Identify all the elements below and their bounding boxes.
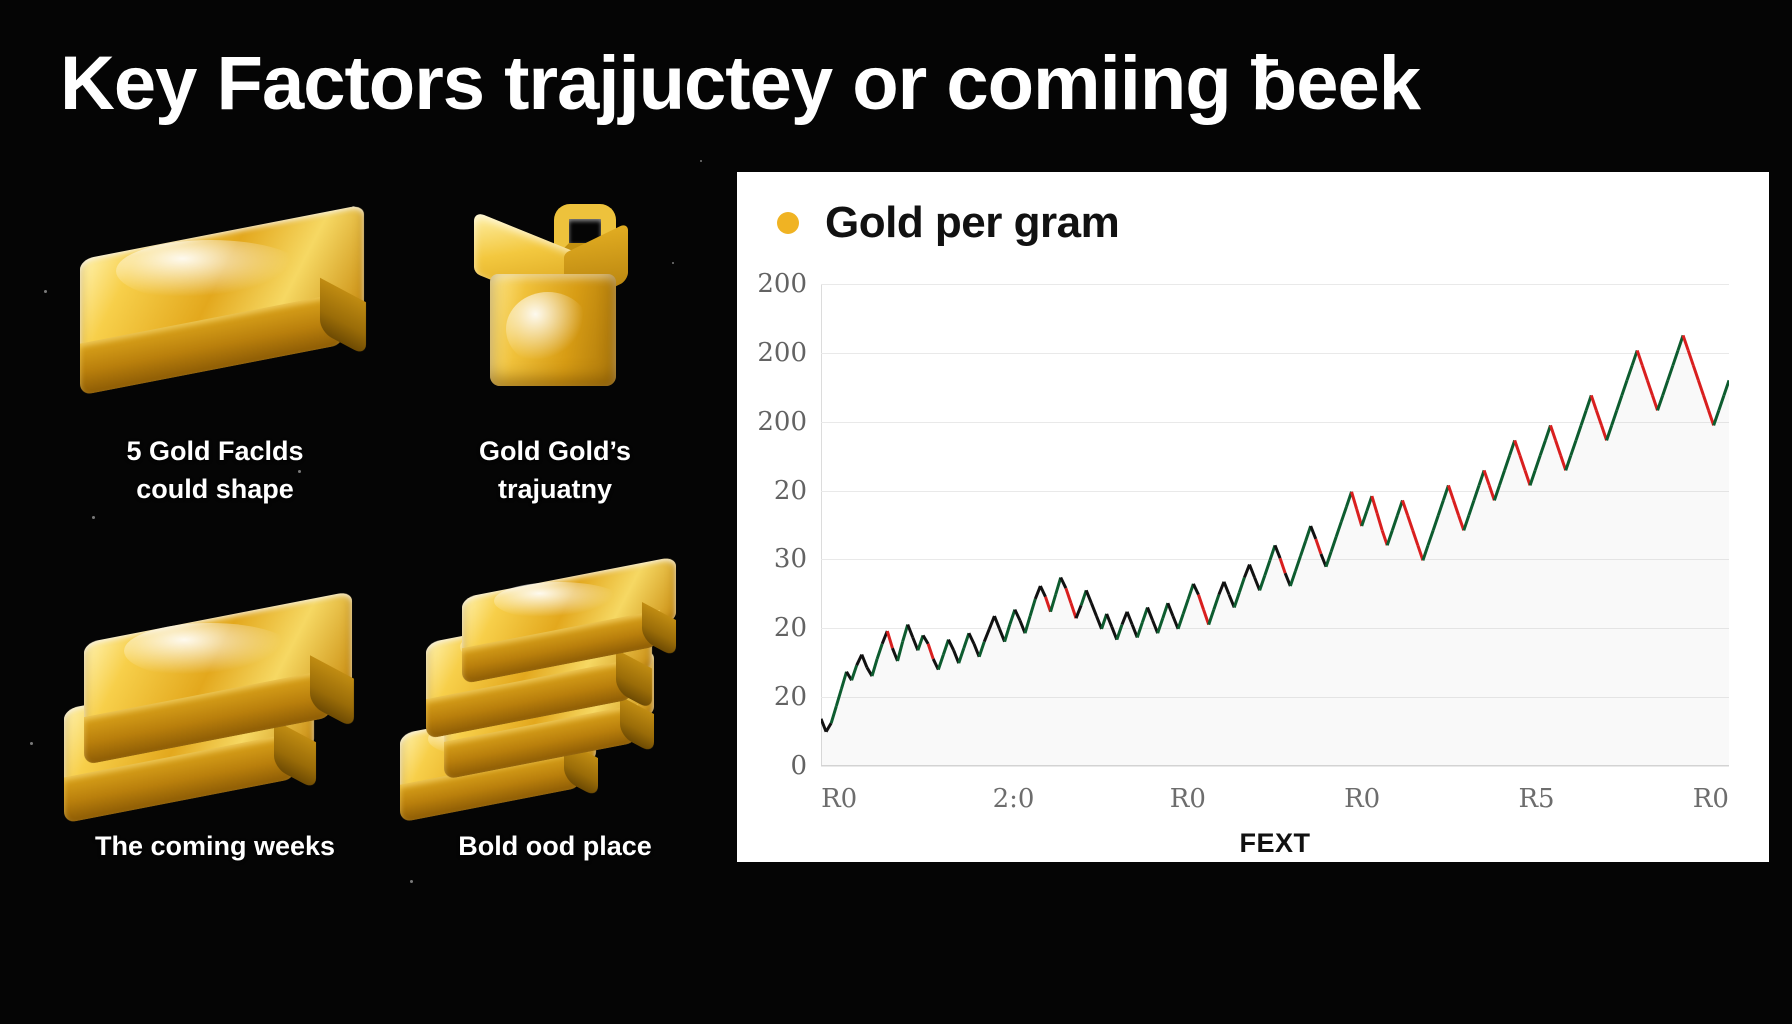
- x-tick-label: R0: [1344, 784, 1380, 814]
- star-speck: [30, 742, 33, 745]
- x-tick-label: 2:0: [993, 784, 1035, 814]
- card-caption: The coming weeks: [50, 827, 380, 865]
- icon-grid: 5 Gold Faclds could shape Gold Gold’s tr…: [40, 170, 730, 970]
- legend-label: Gold per gram: [825, 198, 1119, 248]
- y-tick-label: 200: [757, 269, 807, 299]
- caption-line-1: 5 Gold Faclds: [50, 432, 380, 470]
- caption-line-2: trajuatny: [390, 470, 720, 508]
- chart-panel: Gold per gram 020203020200200200 R02:0R0…: [737, 172, 1769, 862]
- caption-line-1: Gold Gold’s: [390, 432, 720, 470]
- card-caption: 5 Gold Faclds could shape: [50, 432, 380, 509]
- y-tick-label: 20: [774, 682, 807, 712]
- x-axis-label: FEXT: [1239, 828, 1310, 859]
- house-body-shape: [490, 274, 616, 386]
- x-tick-label: R0: [821, 784, 857, 814]
- y-tick-label: 200: [757, 338, 807, 368]
- y-tick-label: 20: [774, 476, 807, 506]
- x-tick-label: R0: [1170, 784, 1206, 814]
- x-tick-label: R0: [1693, 784, 1729, 814]
- x-tick-label: R5: [1518, 784, 1554, 814]
- y-tick-label: 200: [757, 407, 807, 437]
- card-gold-bars-double[interactable]: The coming weeks: [50, 565, 380, 955]
- page-title: Key Factors trajjuctey or comiing ƀeek: [60, 44, 1760, 124]
- gold-house-piggy-bank-icon: [390, 170, 720, 430]
- caption-line-2: could shape: [50, 470, 380, 508]
- star-speck: [700, 160, 702, 162]
- card-gold-house[interactable]: Gold Gold’s trajuatny: [390, 170, 720, 560]
- gold-bars-stack-icon: [390, 565, 720, 825]
- card-caption: Gold Gold’s trajuatny: [390, 432, 720, 509]
- gold-bar-single-icon: [50, 170, 380, 430]
- gold-bars-double-icon: [50, 565, 380, 825]
- legend-color-dot-icon: [777, 212, 799, 234]
- chart-legend[interactable]: Gold per gram: [777, 198, 1119, 248]
- y-tick-label: 30: [774, 544, 807, 574]
- y-tick-label: 20: [774, 613, 807, 643]
- gridline: [821, 766, 1729, 767]
- chart-plot-area: 020203020200200200 R02:0R0R0R5R0 FEXT: [821, 284, 1729, 766]
- card-caption: Bold ood place: [390, 827, 720, 865]
- poster-canvas: Key Factors trajjuctey or comiing ƀeek 5…: [0, 0, 1792, 1024]
- y-tick-label: 0: [790, 751, 807, 781]
- caption-line-1: Bold ood place: [390, 827, 720, 865]
- price-series: [821, 284, 1729, 766]
- card-gold-bars-stack[interactable]: Bold ood place: [390, 565, 720, 955]
- card-gold-bar-single[interactable]: 5 Gold Faclds could shape: [50, 170, 380, 560]
- caption-line-1: The coming weeks: [50, 827, 380, 865]
